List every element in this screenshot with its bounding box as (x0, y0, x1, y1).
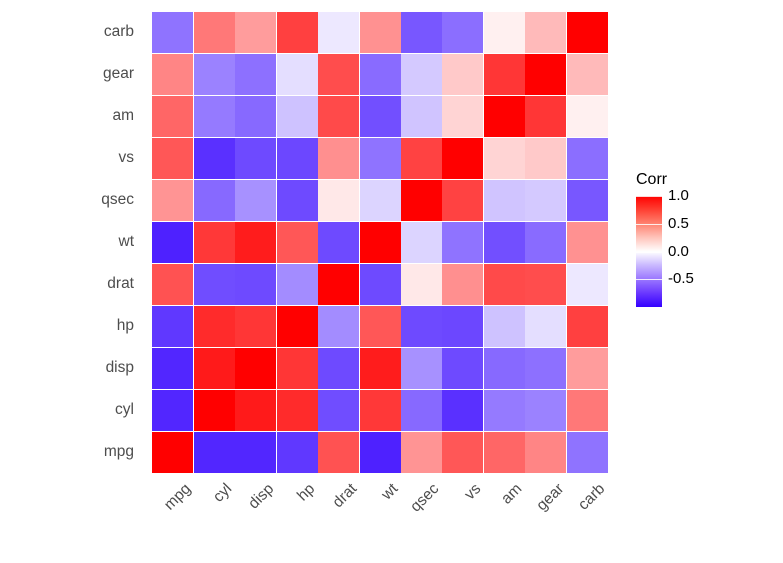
heatmap-cell (484, 390, 525, 431)
heatmap-cell (235, 432, 276, 473)
legend-tick-mark (636, 252, 662, 253)
heatmap-cell (277, 96, 318, 137)
heatmap-cell (567, 348, 608, 389)
heatmap-cell (277, 180, 318, 221)
heatmap-cell (525, 306, 566, 347)
y-tick-label-hp: hp (0, 318, 134, 334)
heatmap-cell (442, 54, 483, 95)
heatmap-cell (235, 138, 276, 179)
heatmap-cell (360, 264, 401, 305)
heatmap-cell (567, 306, 608, 347)
legend-title: Corr (636, 172, 667, 188)
heatmap-cell (360, 390, 401, 431)
heatmap-cell (442, 138, 483, 179)
heatmap-cell (235, 306, 276, 347)
heatmap-cell (277, 264, 318, 305)
heatmap-cell (318, 306, 359, 347)
heatmap-cell (194, 348, 235, 389)
heatmap-cell (401, 348, 442, 389)
y-tick-label-vs: vs (0, 150, 134, 166)
legend: Corr 1.00.50.0-0.5 (630, 172, 750, 317)
heatmap-cell (235, 12, 276, 53)
x-tick-label-cyl: cyl (153, 481, 235, 563)
heatmap-cell (318, 390, 359, 431)
heatmap-cell (152, 96, 193, 137)
y-tick-label-cyl: cyl (0, 402, 134, 418)
heatmap-cell (401, 390, 442, 431)
x-tick-label-carb: carb (527, 481, 609, 563)
heatmap-cell (360, 54, 401, 95)
heatmap-cell (360, 222, 401, 263)
heatmap-cell (318, 222, 359, 263)
heatmap-cell (401, 264, 442, 305)
heatmap-cell (484, 54, 525, 95)
heatmap-cell (194, 138, 235, 179)
heatmap-cell (401, 12, 442, 53)
heatmap-cell (152, 390, 193, 431)
heatmap-cell (194, 222, 235, 263)
heatmap-cell (277, 54, 318, 95)
heatmap-cell (318, 348, 359, 389)
heatmap-cell (484, 180, 525, 221)
y-tick-label-gear: gear (0, 66, 134, 82)
heatmap-cell (567, 96, 608, 137)
heatmap-cell (277, 12, 318, 53)
heatmap-cell (360, 12, 401, 53)
heatmap-cell (152, 432, 193, 473)
x-tick-label-qsec: qsec (361, 481, 443, 563)
heatmap-cell (194, 390, 235, 431)
heatmap-cell (235, 96, 276, 137)
heatmap-cell (235, 222, 276, 263)
heatmap-cell (401, 54, 442, 95)
heatmap-cell (442, 306, 483, 347)
heatmap-cell (567, 54, 608, 95)
heatmap-cell (442, 390, 483, 431)
heatmap-cell (484, 222, 525, 263)
heatmap-cell (401, 306, 442, 347)
heatmap-cell (194, 306, 235, 347)
heatmap-cell (194, 54, 235, 95)
heatmap-cell (318, 138, 359, 179)
heatmap-cell (360, 432, 401, 473)
heatmap-cell (277, 138, 318, 179)
heatmap-cell (318, 180, 359, 221)
heatmap-cell (152, 12, 193, 53)
heatmap-cell (525, 432, 566, 473)
heatmap-cell (152, 264, 193, 305)
heatmap-cell (567, 12, 608, 53)
heatmap-cell (277, 306, 318, 347)
legend-tick-label: 1.0 (668, 188, 689, 203)
x-tick-label-am: am (444, 481, 526, 563)
correlation-heatmap-plot: carbgearamvsqsecwtdrathpdispcylmpg mpgcy… (0, 0, 783, 537)
heatmap-cell (277, 432, 318, 473)
heatmap-cell (567, 264, 608, 305)
heatmap-cell (442, 96, 483, 137)
heatmap-cell (401, 96, 442, 137)
legend-tick-mark (636, 279, 662, 280)
legend-tick-label: 0.0 (668, 244, 689, 259)
heatmap-cell (567, 390, 608, 431)
y-tick-label-drat: drat (0, 276, 134, 292)
heatmap-cell (152, 348, 193, 389)
heatmap-cell (442, 222, 483, 263)
heatmap-cell (567, 222, 608, 263)
legend-tick-label: -0.5 (668, 271, 694, 286)
heatmap-cell (235, 180, 276, 221)
y-tick-label-carb: carb (0, 24, 134, 40)
heatmap-cell (360, 348, 401, 389)
heatmap-cell (318, 432, 359, 473)
heatmap-cell (235, 54, 276, 95)
y-tick-label-wt: wt (0, 234, 134, 250)
heatmap-cell (277, 390, 318, 431)
y-tick-label-qsec: qsec (0, 192, 134, 208)
heatmap-cell (152, 138, 193, 179)
heatmap-cell (360, 96, 401, 137)
legend-tick-label: 0.5 (668, 216, 689, 231)
heatmap-cell (194, 12, 235, 53)
y-tick-label-mpg: mpg (0, 444, 134, 460)
heatmap-cell (360, 180, 401, 221)
heatmap-cell (484, 12, 525, 53)
heatmap-cell (567, 180, 608, 221)
legend-tick-mark (636, 224, 662, 225)
heatmap-cell (442, 348, 483, 389)
heatmap-cell (484, 432, 525, 473)
heatmap-cell (525, 348, 566, 389)
heatmap-cell (235, 390, 276, 431)
y-tick-label-am: am (0, 108, 134, 124)
y-axis: carbgearamvsqsecwtdrathpdispcylmpg (0, 11, 144, 473)
heatmap-cell (194, 96, 235, 137)
heatmap-cell (318, 54, 359, 95)
heatmap-cell (194, 264, 235, 305)
heatmap-cell (318, 12, 359, 53)
heatmap-cell (525, 222, 566, 263)
heatmap-cell (318, 96, 359, 137)
heatmap-cell (235, 264, 276, 305)
heatmap-cell (360, 138, 401, 179)
heatmap-cell (152, 180, 193, 221)
heatmap-cell (442, 180, 483, 221)
heatmap-cell (525, 264, 566, 305)
heatmap-cell (567, 432, 608, 473)
heatmap-cell (318, 264, 359, 305)
heatmap-cell (484, 264, 525, 305)
heatmap-cell (484, 348, 525, 389)
heatmap-cell (194, 180, 235, 221)
x-tick-label-hp: hp (236, 481, 318, 563)
heatmap-cell (525, 138, 566, 179)
heatmap-cell (401, 180, 442, 221)
legend-tick-mark (636, 196, 662, 197)
heatmap-cell (525, 96, 566, 137)
heatmap-cell (194, 432, 235, 473)
heatmap-cell (525, 180, 566, 221)
heatmap-cell (525, 390, 566, 431)
heatmap-cell (360, 306, 401, 347)
heatmap-cell (277, 222, 318, 263)
heatmap-cell (152, 306, 193, 347)
heatmap-cell (442, 264, 483, 305)
heatmap-cell (277, 348, 318, 389)
heatmap-cell (567, 138, 608, 179)
heatmap-cell (152, 54, 193, 95)
heatmap-cell (401, 222, 442, 263)
heatmap-cell (484, 138, 525, 179)
heatmap-cell (442, 12, 483, 53)
heatmap-cell (152, 222, 193, 263)
heatmap-cell (525, 12, 566, 53)
heatmap-cell (484, 306, 525, 347)
heatmap-cell (235, 348, 276, 389)
heatmap-cell (401, 432, 442, 473)
heatmap-cell (442, 432, 483, 473)
heatmap-cell (484, 96, 525, 137)
y-tick-label-disp: disp (0, 360, 134, 376)
heatmap-panel (152, 11, 608, 473)
heatmap-cell (401, 138, 442, 179)
heatmap-cell (525, 54, 566, 95)
x-axis: mpgcyldisphpdratwtqsecvsamgearcarb (152, 473, 608, 537)
